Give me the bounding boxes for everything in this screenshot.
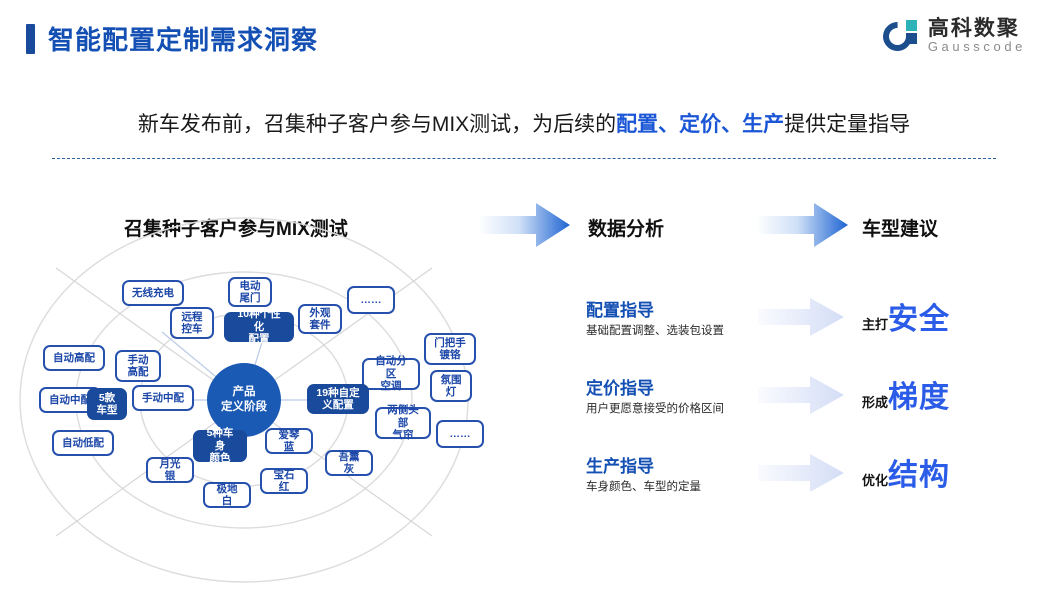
cluster-node: …… <box>347 286 395 314</box>
row-subtitle: 基础配置调整、选装包设置 <box>586 322 724 338</box>
cluster-node: 19种自定 义配置 <box>307 384 369 414</box>
row-outcome-keyword: 结构 <box>888 450 950 494</box>
column-heading-recommendation: 车型建议 <box>862 214 938 241</box>
logo-square-navy-icon <box>906 33 917 44</box>
cluster-node: 极地白 <box>203 482 251 508</box>
cluster-node: 爱琴蓝 <box>265 428 313 454</box>
row-outcome: 优化 结构 <box>862 450 950 494</box>
row-subtitle: 用户更愿意接受的价格区间 <box>586 400 724 416</box>
logo-text: 高科数聚 Gausscode <box>928 18 1026 54</box>
row-outcome: 主打 安全 <box>862 294 950 338</box>
slide-root: 智能配置定制需求洞察 高科数聚 Gausscode 新车发布前，召集种子客户参与… <box>0 0 1048 589</box>
row-outcome-prefix: 主打 <box>862 314 888 333</box>
product-definition-cluster: 产品 定义阶段 无线充电电动 尾门……远程 控车10种个性化 配置外观 套件自动… <box>12 250 492 550</box>
cluster-node: 两侧头部 气帘 <box>375 407 431 439</box>
title-label: 智能配置定制需求洞察 <box>48 20 318 57</box>
cluster-node: 月光银 <box>146 457 194 483</box>
cluster-node: 手动中配 <box>132 385 194 411</box>
header-arrow-1-icon <box>478 202 570 248</box>
row-outcome: 形成 梯度 <box>862 372 950 416</box>
row-outcome-prefix: 优化 <box>862 470 888 489</box>
guidance-row-pricing: 定价指导 用户更愿意接受的价格区间 形成 梯度 <box>586 374 1046 440</box>
row-arrow-icon <box>758 298 844 336</box>
slide-header: 智能配置定制需求洞察 高科数聚 Gausscode <box>0 0 1048 82</box>
cluster-node: 门把手 镀铬 <box>424 333 476 365</box>
logo-square-teal-icon <box>906 20 917 31</box>
row-subtitle: 车身颜色、车型的定量 <box>586 478 701 494</box>
cluster-node: 外观 套件 <box>298 304 342 334</box>
cluster-node: 远程 控车 <box>170 307 214 339</box>
logo-name-en: Gausscode <box>928 40 1026 54</box>
cluster-node: 宝石红 <box>260 468 308 494</box>
lead-part-1: 新车发布前，召集种子客户参与MIX测试，为后续的 <box>138 113 616 136</box>
row-outcome-keyword: 安全 <box>888 294 950 338</box>
cluster-node: 吾薰灰 <box>325 450 373 476</box>
guidance-row-production: 生产指导 车身颜色、车型的定量 优化 结构 <box>586 452 1046 518</box>
cluster-node: 5款 车型 <box>87 388 127 420</box>
cluster-node: 自动低配 <box>52 430 114 456</box>
row-title: 配置指导 <box>586 296 654 321</box>
title-accent-bar <box>26 24 35 54</box>
lead-sentence: 新车发布前，召集种子客户参与MIX测试，为后续的配置、定价、生产提供定量指导 <box>0 108 1048 138</box>
logo-name-cn: 高科数聚 <box>928 18 1026 40</box>
row-title: 定价指导 <box>586 374 654 399</box>
cluster-node: 氛围 灯 <box>430 370 472 402</box>
row-outcome-keyword: 梯度 <box>888 372 950 416</box>
cluster-node: 自动分区 空调 <box>362 358 420 390</box>
cluster-node: 自动高配 <box>43 345 105 371</box>
row-arrow-icon <box>758 376 844 414</box>
cluster-node: 手动 高配 <box>115 350 161 382</box>
column-heading-analysis: 数据分析 <box>588 214 664 241</box>
header-arrow-2-icon <box>756 202 848 248</box>
cluster-node: 无线充电 <box>122 280 184 306</box>
cluster-node: 电动 尾门 <box>228 277 272 307</box>
lead-highlight: 配置、定价、生产 <box>616 113 784 136</box>
page-title: 智能配置定制需求洞察 <box>26 20 318 57</box>
guidance-row-configuration: 配置指导 基础配置调整、选装包设置 主打 安全 <box>586 296 1046 362</box>
row-arrow-icon <box>758 454 844 492</box>
cluster-node: 10种个性化 配置 <box>224 312 294 342</box>
lead-part-2: 提供定量指导 <box>784 113 910 136</box>
brand-logo: 高科数聚 Gausscode <box>883 18 1026 54</box>
cluster-node: …… <box>436 420 484 448</box>
section-divider <box>52 158 996 159</box>
row-outcome-prefix: 形成 <box>862 392 888 411</box>
cluster-node: 5种车身 颜色 <box>193 430 247 462</box>
row-title: 生产指导 <box>586 452 654 477</box>
hub-product-definition: 产品 定义阶段 <box>207 363 281 437</box>
logo-glyph-icon <box>883 18 919 54</box>
